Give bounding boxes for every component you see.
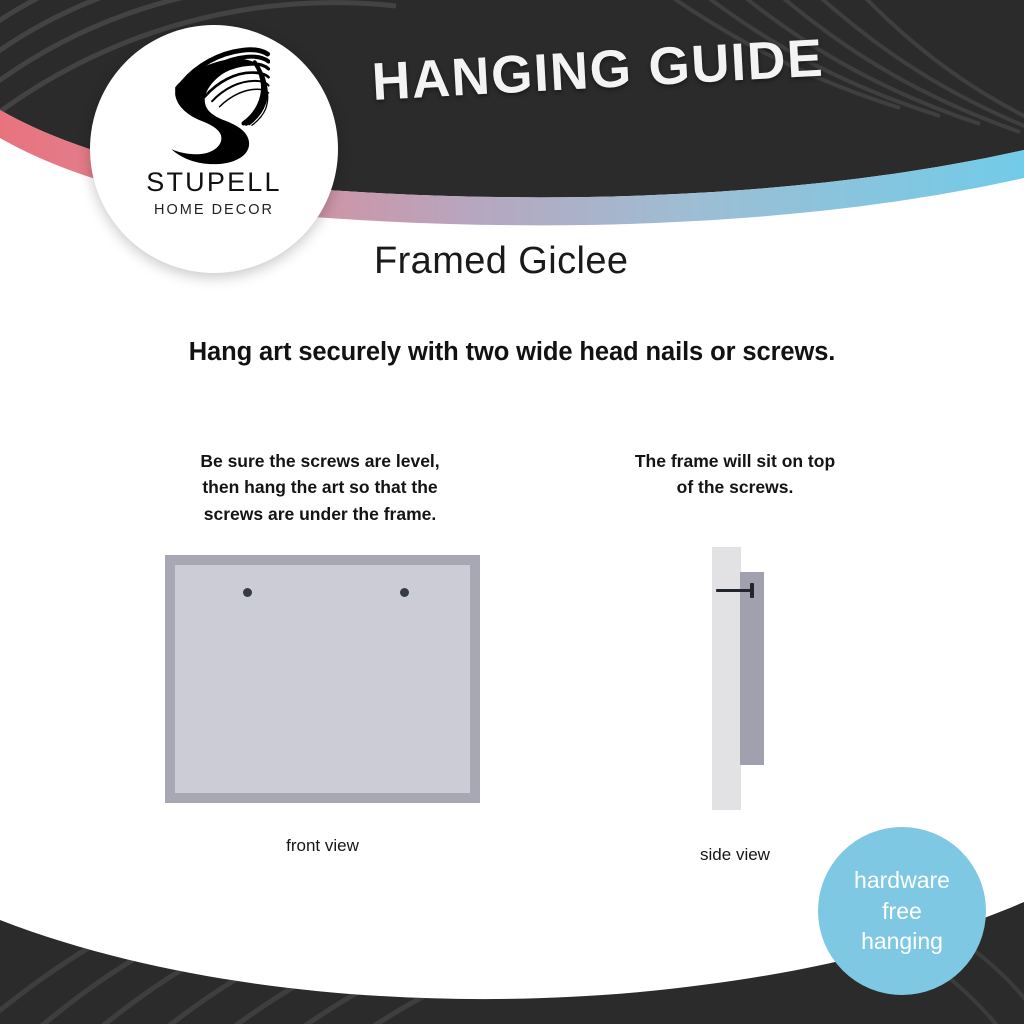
brand-tagline: HOME DECOR [154, 203, 274, 218]
side-view-label: side view [650, 845, 820, 865]
front-view-caption-line-1: Be sure the screws are level, [150, 448, 490, 474]
badge-line-3: hanging [861, 926, 943, 957]
main-instruction-text: Hang art securely with two wide head nai… [0, 338, 1024, 367]
badge-line-2: free [882, 896, 922, 927]
brand-logo: STUPELL HOME DECOR [90, 25, 338, 273]
front-view-caption: Be sure the screws are level, then hang … [150, 448, 490, 527]
stupell-s-swoosh-icon [158, 43, 270, 165]
side-view-caption: The frame will sit on top of the screws. [590, 448, 880, 501]
side-view-caption-line-1: The frame will sit on top [590, 448, 880, 474]
front-view-caption-line-2: then hang the art so that the [150, 474, 490, 500]
side-view-wall [712, 547, 741, 810]
badge-line-1: hardware [854, 865, 950, 896]
front-view-caption-line-3: screws are under the frame. [150, 501, 490, 527]
product-type-heading: Framed Giclee [374, 240, 628, 283]
screw-dot-left [243, 588, 252, 597]
nail-head-icon [750, 583, 754, 598]
page-title: HANGING GUIDE [370, 28, 825, 113]
screw-dot-right [400, 588, 409, 597]
side-view-caption-line-2: of the screws. [590, 474, 880, 500]
nail-shaft-icon [716, 589, 752, 592]
front-view-label: front view [220, 836, 425, 856]
brand-name: STUPELL [146, 169, 281, 196]
hardware-free-hanging-badge: hardware free hanging [818, 827, 986, 995]
front-view-frame-diagram [165, 555, 480, 803]
front-view-frame-interior [175, 565, 470, 793]
side-view-frame [740, 572, 764, 765]
hanging-guide-page: HANGING GUIDE STUPELL HOME DE [0, 0, 1024, 1024]
